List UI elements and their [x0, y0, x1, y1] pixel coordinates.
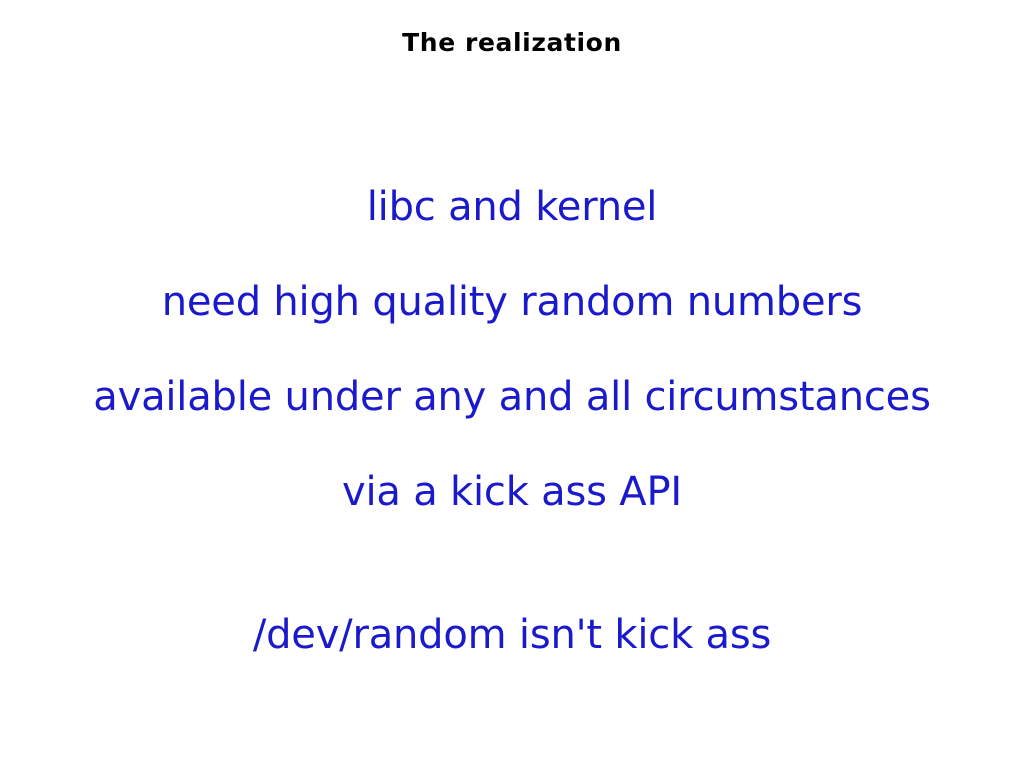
body-line-2: need high quality random numbers [0, 255, 1024, 350]
slide-canvas: The realization libc and kernel need hig… [0, 0, 1024, 768]
body-line-spacer [0, 540, 1024, 588]
slide-body: libc and kernel need high quality random… [0, 160, 1024, 683]
slide-title: The realization [0, 28, 1024, 58]
body-line-3: available under any and all circumstance… [0, 350, 1024, 445]
body-line-1: libc and kernel [0, 160, 1024, 255]
body-line-4: via a kick ass API [0, 445, 1024, 540]
body-line-5: /dev/random isn't kick ass [0, 588, 1024, 683]
